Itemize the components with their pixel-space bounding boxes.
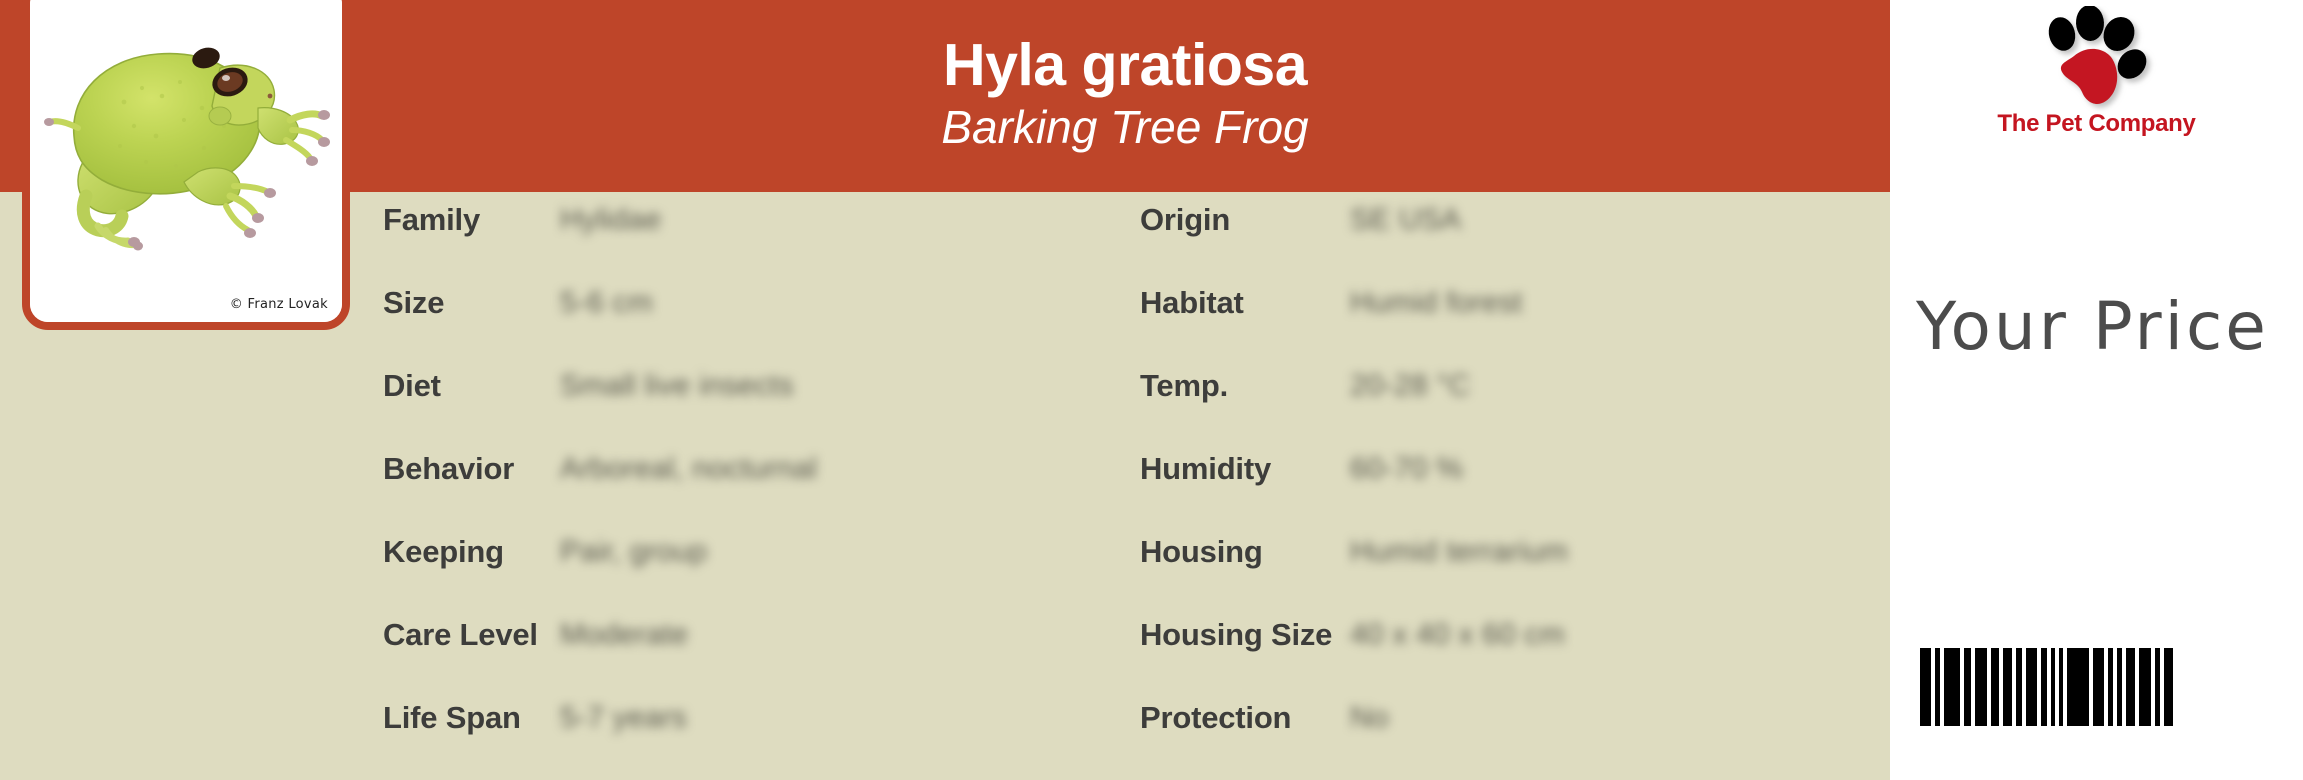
barcode-bar: [1920, 648, 1931, 726]
pet-label-card: Hyla gratiosa Barking Tree Frog: [0, 0, 2303, 780]
spec-label: Housing: [1140, 534, 1263, 570]
title-block: Hyla gratiosa Barking Tree Frog: [360, 0, 1890, 192]
spec-label: Housing Size: [1140, 617, 1332, 653]
barcode-bar: [2093, 648, 2104, 726]
spec-label: Keeping: [383, 534, 504, 570]
spec-value: Hylidae: [560, 203, 661, 237]
spec-label: Life Span: [383, 700, 521, 736]
barcode-bar: [1964, 648, 1971, 726]
spec-row: Life Span 5-7 years: [383, 690, 521, 745]
species-info-panel: Hyla gratiosa Barking Tree Frog: [0, 0, 1890, 780]
barcode-bar: [2016, 648, 2022, 726]
spec-row: Temp. 20-28 °C: [1140, 358, 1228, 413]
spec-row: Diet Small live insects: [383, 358, 441, 413]
barcode-bar: [2155, 648, 2160, 726]
spec-value: 60-70 %: [1350, 452, 1463, 486]
spec-row: Humidity 60-70 %: [1140, 441, 1271, 496]
spec-value: Humid terrarium: [1350, 535, 1568, 569]
spec-label: Behavior: [383, 451, 514, 487]
barcode-bar: [2126, 648, 2135, 726]
species-common-name: Barking Tree Frog: [941, 101, 1308, 154]
spec-label: Protection: [1140, 700, 1291, 736]
barcode-bar: [2041, 648, 2047, 726]
spec-value: SE USA: [1350, 203, 1461, 237]
price-panel: The Pet Company Your Price: [1890, 0, 2303, 780]
spec-label: Care Level: [383, 617, 538, 653]
barcode-bar: [2164, 648, 2173, 726]
paw-print-icon: [2022, 6, 2172, 116]
spec-row: Protection No: [1140, 690, 1291, 745]
barcode: [1920, 648, 2177, 726]
spec-row: Housing Size 40 x 40 x 60 cm: [1140, 607, 1332, 662]
barcode-bar: [1935, 648, 1940, 726]
barcode-bar: [2139, 648, 2151, 726]
species-spec-table: Family Hylidae Size 5-6 cm Diet Small li…: [0, 192, 1890, 780]
spec-label: Humidity: [1140, 451, 1271, 487]
spec-row: Habitat Humid forest: [1140, 275, 1244, 330]
spec-value: 40 x 40 x 60 cm: [1350, 618, 1565, 652]
spec-value: Humid forest: [1350, 286, 1522, 320]
barcode-bar: [2026, 648, 2037, 726]
species-scientific-name: Hyla gratiosa: [943, 35, 1307, 97]
spec-row: Size 5-6 cm: [383, 275, 444, 330]
spec-label: Family: [383, 202, 480, 238]
spec-label: Habitat: [1140, 285, 1244, 321]
spec-value: No: [1350, 701, 1389, 735]
barcode-bar: [1944, 648, 1960, 726]
barcode-bar: [2059, 648, 2063, 726]
spec-value: Arboreal, nocturnal: [560, 452, 817, 486]
spec-label: Origin: [1140, 202, 1230, 238]
spec-value: Small live insects: [560, 369, 794, 403]
barcode-bar: [2003, 648, 2012, 726]
company-name: The Pet Company: [1890, 110, 2303, 138]
spec-row: Housing Humid terrarium: [1140, 524, 1263, 579]
barcode-bar: [2051, 648, 2055, 726]
barcode-bar: [2108, 648, 2113, 726]
spec-value: 5-6 cm: [560, 286, 653, 320]
spec-value: 20-28 °C: [1350, 369, 1470, 403]
company-logo: The Pet Company: [1890, 6, 2303, 156]
spec-column-left: Family Hylidae Size 5-6 cm Diet Small li…: [383, 192, 1123, 780]
spec-value: 5-7 years: [560, 701, 687, 735]
spec-column-right: Origin SE USA Habitat Humid forest Temp.…: [1140, 192, 1880, 780]
spec-value: Moderate: [560, 618, 688, 652]
spec-label: Size: [383, 285, 444, 321]
spec-row: Behavior Arboreal, nocturnal: [383, 441, 514, 496]
spec-row: Family Hylidae: [383, 192, 480, 247]
spec-row: Care Level Moderate: [383, 607, 538, 662]
price-heading: Your Price: [1916, 288, 2269, 365]
barcode-bar: [1975, 648, 1987, 726]
spec-row: Origin SE USA: [1140, 192, 1230, 247]
spec-label: Temp.: [1140, 368, 1228, 404]
spec-row: Keeping Pair, group: [383, 524, 504, 579]
barcode-bar: [1991, 648, 1999, 726]
barcode-bar: [2117, 648, 2122, 726]
barcode-bar: [2067, 648, 2089, 726]
spec-value: Pair, group: [560, 535, 707, 569]
spec-label: Diet: [383, 368, 441, 404]
